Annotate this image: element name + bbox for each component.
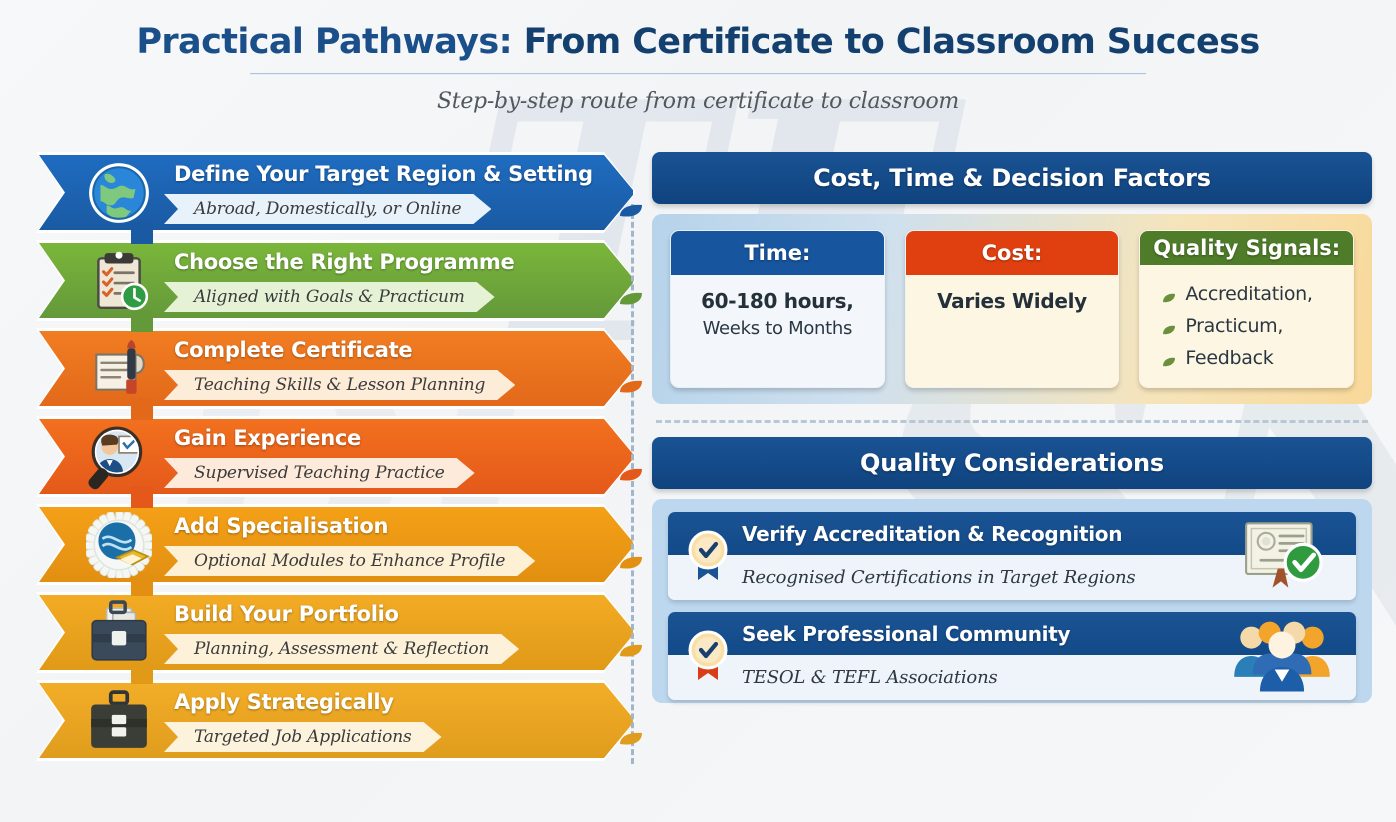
step-subtitle: Teaching Skills & Lesson Planning	[194, 375, 485, 395]
certificate-scroll-icon	[86, 336, 152, 402]
title-divider	[250, 73, 1146, 75]
step-title: Define Your Target Region & Setting	[174, 162, 593, 186]
quality-panel-header: Quality Considerations	[652, 437, 1372, 489]
infographic-root: TF SN DL Practical Pathways: From Certif…	[0, 0, 1396, 822]
factor-card-body: Accreditation, Practicum, Feedback	[1140, 265, 1353, 387]
steps-column: Define Your Target Region & Setting Abro…	[36, 152, 636, 768]
briefcase-documents-icon	[86, 600, 152, 666]
right-column: Cost, Time & Decision Factors Time: 60-1…	[652, 152, 1372, 703]
quality-item-subtitle: Recognised Certifications in Target Regi…	[742, 567, 1135, 588]
step-row-7[interactable]: Apply Strategically Targeted Job Applica…	[36, 680, 636, 761]
quality-signal-label: Accreditation,	[1185, 283, 1312, 305]
quality-panel-title: Quality Considerations	[860, 449, 1164, 477]
step-subtitle-ribbon: Aligned with Goals & Practicum	[164, 282, 495, 312]
factor-card-2[interactable]: Cost: Varies Widely	[905, 230, 1120, 388]
factor-card-label: Time:	[744, 241, 810, 265]
step-subtitle-ribbon: Abroad, Domestically, or Online	[164, 194, 491, 224]
step-row-4[interactable]: Gain Experience Supervised Teaching Prac…	[36, 416, 636, 497]
people-group-icon	[1222, 618, 1342, 694]
page-title-part1: Practical Pathways:	[136, 22, 512, 62]
factor-card-1[interactable]: Time: 60-180 hours,Weeks to Months	[670, 230, 885, 388]
leaf-icon	[618, 204, 644, 219]
check-badge-icon	[684, 520, 732, 592]
step-row-6[interactable]: Build Your Portfolio Planning, Assessmen…	[36, 592, 636, 673]
bullet-leaf-icon	[1162, 289, 1176, 300]
panel-separator	[656, 420, 1368, 423]
step-subtitle: Targeted Job Applications	[194, 727, 412, 747]
page-title-part2: From Certificate to Classroom Success	[512, 22, 1260, 62]
factors-panel-title: Cost, Time & Decision Factors	[813, 164, 1211, 192]
bullet-leaf-icon	[1162, 353, 1176, 364]
quality-items-list: Verify Accreditation & Recognition Recog…	[652, 499, 1372, 703]
step-row-2[interactable]: Choose the Right Programme Aligned with …	[36, 240, 636, 321]
step-title: Gain Experience	[174, 426, 361, 450]
leaf-icon	[618, 468, 644, 483]
quality-item-2[interactable]: Seek Professional Community TESOL & TEFL…	[668, 612, 1356, 700]
step-subtitle-ribbon: Supervised Teaching Practice	[164, 458, 475, 488]
header: Practical Pathways: From Certificate to …	[0, 22, 1396, 114]
step-subtitle-ribbon: Planning, Assessment & Reflection	[164, 634, 519, 664]
board: Define Your Target Region & Setting Abro…	[0, 152, 1396, 822]
magnifier-teacher-icon	[86, 424, 152, 490]
step-subtitle-ribbon: Optional Modules to Enhance Profile	[164, 546, 535, 576]
bullet-leaf-icon	[1162, 321, 1176, 332]
leaf-icon	[618, 380, 644, 395]
clipboard-checklist-icon	[86, 248, 152, 314]
quality-signal-item-3: Feedback	[1162, 347, 1337, 369]
factor-card-body: Varies Widely	[906, 275, 1119, 387]
step-row-3[interactable]: Complete Certificate Teaching Skills & L…	[36, 328, 636, 409]
quality-item-subtitle: TESOL & TEFL Associations	[742, 667, 998, 688]
step-subtitle: Aligned with Goals & Practicum	[194, 287, 465, 307]
step-title: Complete Certificate	[174, 338, 412, 362]
factor-card-header: Time:	[671, 231, 884, 275]
step-row-5[interactable]: Add Specialisation Optional Modules to E…	[36, 504, 636, 585]
factor-card-body: 60-180 hours,Weeks to Months	[671, 275, 884, 387]
globe-icon	[86, 160, 152, 226]
step-title: Add Specialisation	[174, 514, 388, 538]
step-subtitle-ribbon: Targeted Job Applications	[164, 722, 442, 752]
factor-value-line2: Weeks to Months	[681, 318, 874, 339]
gear-book-icon	[86, 512, 152, 578]
quality-item-title: Seek Professional Community	[742, 622, 1070, 646]
step-subtitle: Abroad, Domestically, or Online	[194, 199, 461, 219]
step-subtitle: Planning, Assessment & Reflection	[194, 639, 489, 659]
quality-signal-list: Accreditation, Practicum, Feedback	[1150, 279, 1343, 369]
quality-signal-label: Practicum,	[1185, 315, 1283, 337]
factor-card-label: Cost:	[982, 241, 1043, 265]
step-subtitle: Supervised Teaching Practice	[194, 463, 445, 483]
factor-value-line1: 60-180 hours,	[681, 289, 874, 313]
step-row-1[interactable]: Define Your Target Region & Setting Abro…	[36, 152, 636, 233]
check-badge-icon	[684, 620, 732, 692]
step-title: Choose the Right Programme	[174, 250, 514, 274]
factors-panel-header: Cost, Time & Decision Factors	[652, 152, 1372, 204]
quality-item-title: Verify Accreditation & Recognition	[742, 522, 1122, 546]
factors-card-grid: Time: 60-180 hours,Weeks to Months Cost:…	[652, 214, 1372, 404]
factor-card-3[interactable]: Quality Signals: Accreditation, Practicu…	[1139, 230, 1354, 388]
factor-card-label: Quality Signals:	[1153, 236, 1340, 260]
factor-card-header: Quality Signals:	[1140, 231, 1353, 265]
page-subtitle: Step-by-step route from certificate to c…	[0, 89, 1396, 114]
step-subtitle-ribbon: Teaching Skills & Lesson Planning	[164, 370, 515, 400]
flow-spine	[631, 204, 634, 764]
factor-card-header: Cost:	[906, 231, 1119, 275]
leaf-icon	[618, 644, 644, 659]
briefcase-icon	[86, 688, 152, 754]
quality-item-1[interactable]: Verify Accreditation & Recognition Recog…	[668, 512, 1356, 600]
step-title: Build Your Portfolio	[174, 602, 399, 626]
quality-signal-item-1: Accreditation,	[1162, 283, 1337, 305]
leaf-icon	[618, 556, 644, 571]
leaf-icon	[618, 292, 644, 307]
quality-signal-label: Feedback	[1185, 347, 1273, 369]
quality-signal-item-2: Practicum,	[1162, 315, 1337, 337]
step-subtitle: Optional Modules to Enhance Profile	[194, 551, 505, 571]
page-title: Practical Pathways: From Certificate to …	[0, 22, 1396, 62]
certificate-verified-icon	[1222, 518, 1342, 594]
step-title: Apply Strategically	[174, 690, 394, 714]
factor-value-line1: Varies Widely	[916, 289, 1109, 313]
leaf-icon	[618, 732, 644, 747]
